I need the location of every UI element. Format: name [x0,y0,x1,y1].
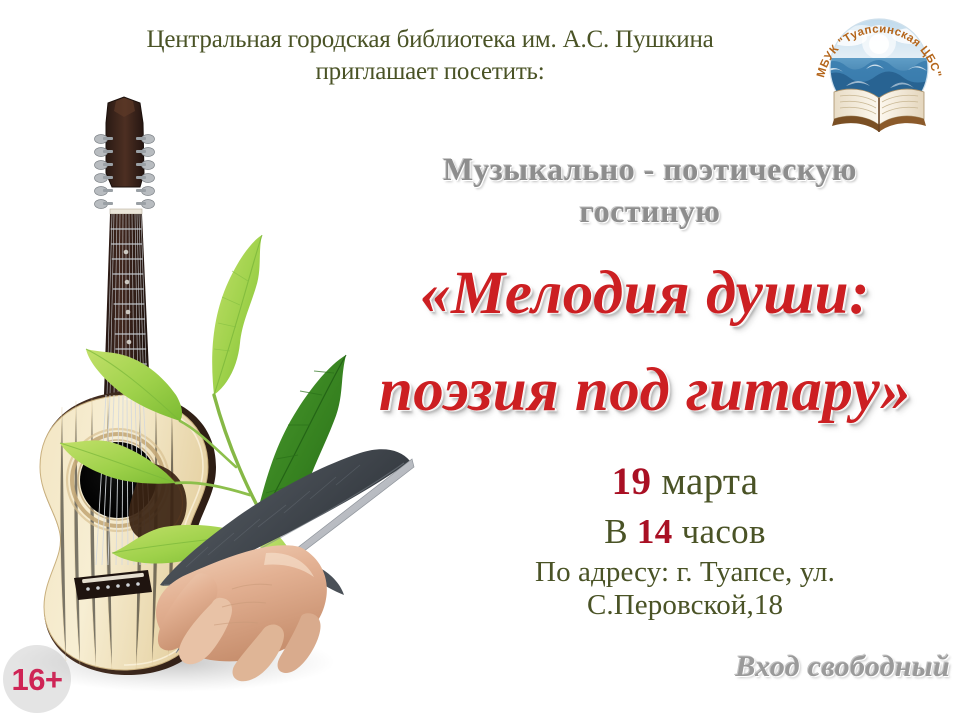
header-line-2: приглашает посетить: [70,56,790,88]
title-line-2: поэзия под гитару» [330,345,960,438]
event-time-number: 14 [637,512,673,551]
library-header: Центральная городская библиотека им. А.С… [70,24,790,88]
writing-hand-icon [156,545,327,681]
event-date-number: 19 [612,460,652,503]
quill-feather-icon [160,449,414,657]
event-address-line-1: По адресу: г. Туапсе, ул. [420,556,950,589]
age-rating-label: 16+ [11,664,62,695]
poster-canvas: Центральная городская библиотека им. А.С… [0,0,960,720]
acoustic-guitar-icon [40,97,216,675]
event-address-line-2: С.Перовской,18 [420,589,950,622]
subtitle-line-1: Музыкально - поэтическую [340,148,960,190]
header-line-1: Центральная городская библиотека им. А.С… [70,24,790,56]
event-title: «Мелодия души: поэзия под гитару» [330,248,960,437]
title-line-1: «Мелодия души: [330,248,960,341]
event-details: 19 марта В 14 часов По адресу: г. Туапсе… [420,458,950,622]
event-date-month: марта [661,460,758,503]
event-time: В 14 часов [420,510,950,553]
event-subtitle: Музыкально - поэтическую гостиную [340,148,960,232]
event-date: 19 марта [420,458,950,506]
library-logo: МБУК "Туапсинская ЦБС" [812,6,946,138]
age-rating-badge: 16+ [3,645,71,713]
green-leaves-icon [60,235,346,615]
event-time-suffix: часов [682,512,766,551]
subtitle-line-2: гостиную [340,190,960,232]
free-entry-label: Вход свободный [560,650,950,684]
event-time-prefix: В [604,512,628,551]
